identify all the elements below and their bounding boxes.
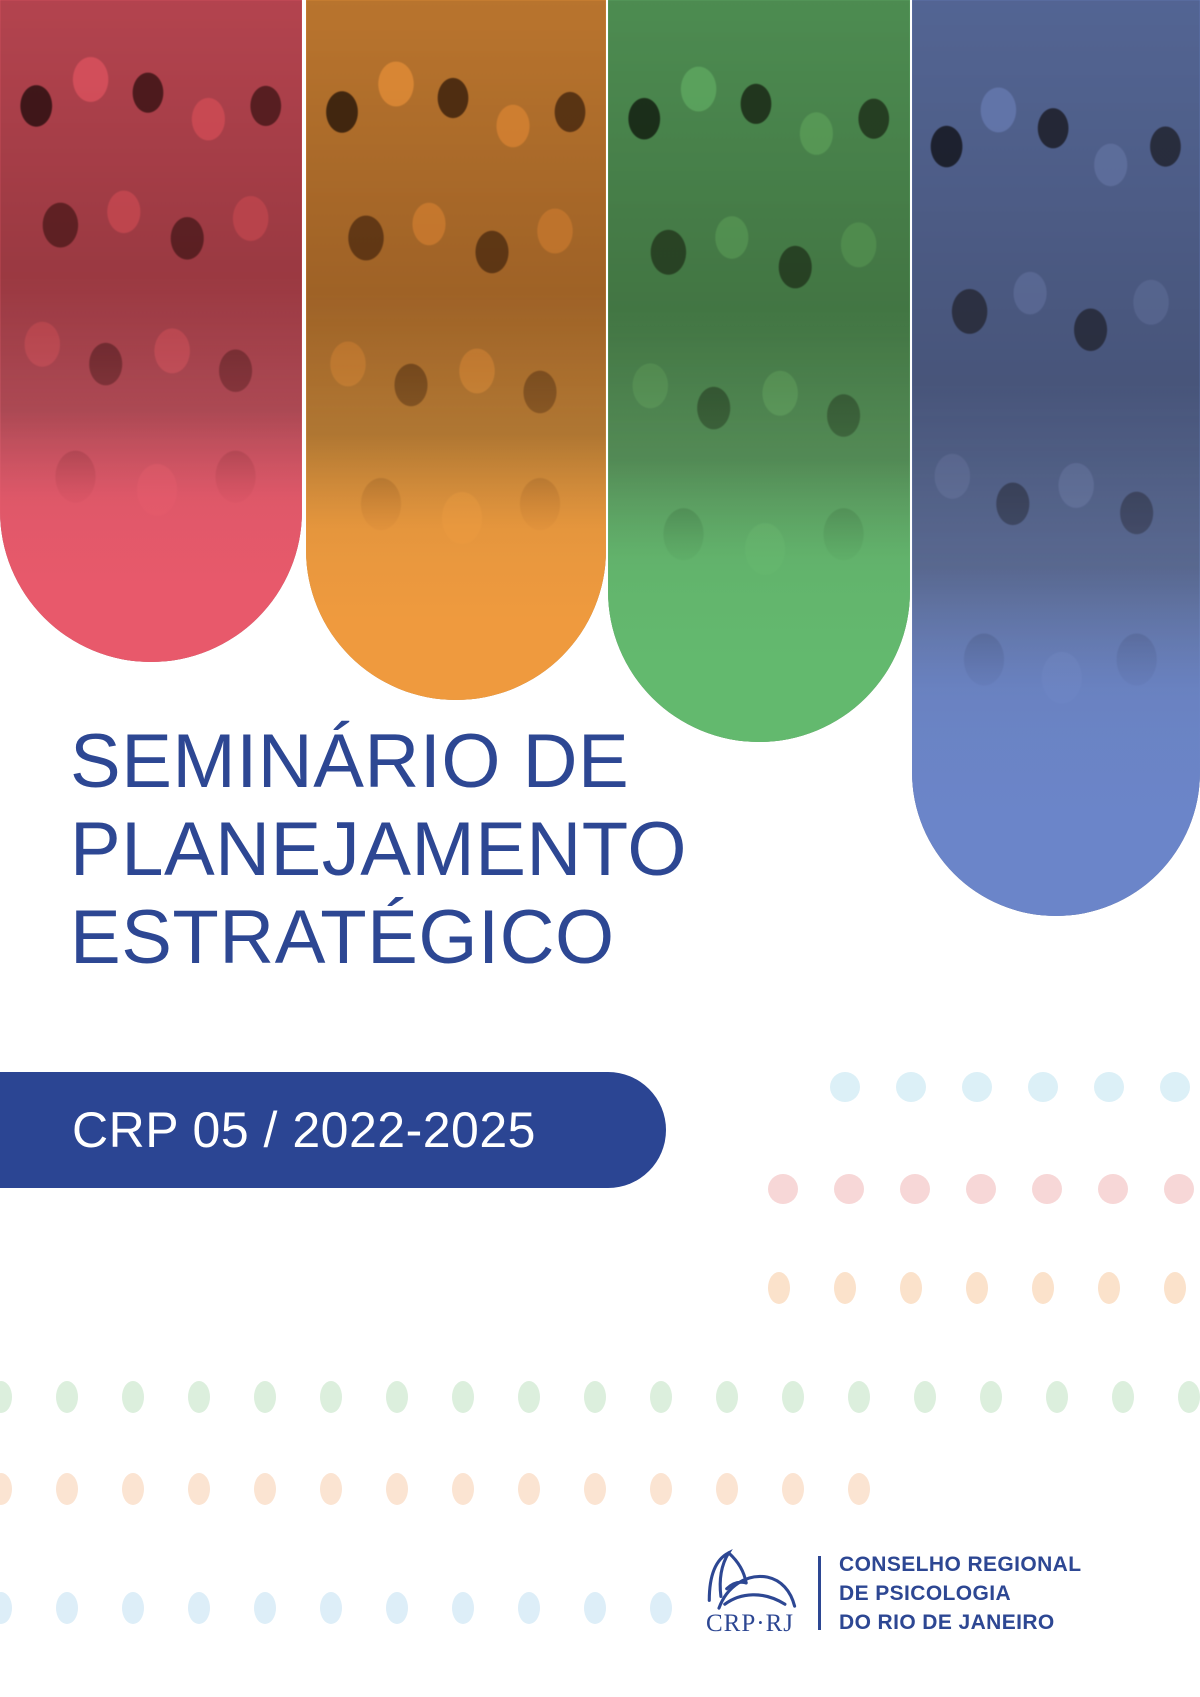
decor-dot: [584, 1473, 606, 1505]
decor-dot: [1028, 1072, 1058, 1102]
decor-dot: [452, 1473, 474, 1505]
decor-dot: [584, 1381, 606, 1413]
dots-lightblue-upper: [830, 1072, 1190, 1102]
color-block-fade: [306, 434, 606, 700]
decor-dot: [962, 1072, 992, 1102]
logo-line-1: CONSELHO REGIONAL: [839, 1550, 1081, 1579]
decor-dot: [122, 1592, 144, 1624]
decor-dot: [1046, 1381, 1068, 1413]
decor-dot: [768, 1174, 798, 1204]
subtitle-text: CRP 05 / 2022-2025: [72, 1101, 536, 1159]
decor-dot: [452, 1592, 474, 1624]
decor-dot: [650, 1592, 672, 1624]
subtitle-banner: CRP 05 / 2022-2025: [0, 1072, 666, 1188]
decor-dot: [650, 1473, 672, 1505]
decor-dot: [834, 1174, 864, 1204]
dots-peach-left: [0, 1473, 870, 1505]
column-blue: [912, 0, 1200, 916]
dots-green-full: [0, 1381, 1200, 1413]
decor-dot: [188, 1473, 210, 1505]
decor-dot: [966, 1174, 996, 1204]
logo-divider: [818, 1556, 821, 1630]
decor-dot: [900, 1272, 922, 1304]
decor-dot: [188, 1381, 210, 1413]
decor-dot: [56, 1473, 78, 1505]
decor-dot: [122, 1381, 144, 1413]
decor-dot: [56, 1381, 78, 1413]
column-red: [0, 0, 302, 662]
decor-dot: [254, 1592, 276, 1624]
dots-pink-upper: [768, 1174, 1194, 1204]
decor-dot: [254, 1381, 276, 1413]
decor-dot: [320, 1592, 342, 1624]
decor-dot: [650, 1381, 672, 1413]
decor-dot: [834, 1272, 856, 1304]
decor-dot: [1032, 1272, 1054, 1304]
logo-text-block: CONSELHO REGIONAL DE PSICOLOGIA DO RIO D…: [839, 1550, 1081, 1637]
column-orange: [306, 0, 606, 700]
decor-dot: [1098, 1272, 1120, 1304]
decor-dot: [386, 1592, 408, 1624]
decor-dot: [966, 1272, 988, 1304]
decor-dot: [1160, 1072, 1190, 1102]
decor-dot: [518, 1381, 540, 1413]
decor-dot: [518, 1592, 540, 1624]
decor-dot: [830, 1072, 860, 1102]
decor-dot: [914, 1381, 936, 1413]
decor-dot: [320, 1381, 342, 1413]
crp-rj-logo: CRP·RJ CONSELHO REGIONAL DE PSICOLOGIA D…: [696, 1548, 1081, 1638]
decor-dot: [56, 1592, 78, 1624]
decor-dot: [1178, 1381, 1200, 1413]
decor-dot: [1164, 1272, 1186, 1304]
decor-dot: [386, 1473, 408, 1505]
decor-dot: [848, 1473, 870, 1505]
decor-dot: [782, 1473, 804, 1505]
logo-line-2: DE PSICOLOGIA: [839, 1579, 1081, 1608]
decor-dot: [980, 1381, 1002, 1413]
decor-dot: [254, 1473, 276, 1505]
color-block-fade: [0, 410, 302, 662]
dots-lightblue-low: [0, 1592, 672, 1624]
decor-dot: [716, 1473, 738, 1505]
decor-dot: [386, 1381, 408, 1413]
decor-dot: [1032, 1174, 1062, 1204]
color-block-fade: [608, 460, 910, 742]
decor-dot: [1094, 1072, 1124, 1102]
column-green: [608, 0, 910, 742]
color-block-fade: [912, 568, 1200, 916]
decor-dot: [0, 1473, 12, 1505]
decor-dot: [188, 1592, 210, 1624]
title-line-2: PLANEJAMENTO: [70, 806, 830, 894]
crp-rj-wordmark: CRP·RJ: [706, 1610, 794, 1638]
decor-dot: [1112, 1381, 1134, 1413]
decor-dot: [782, 1381, 804, 1413]
decor-dot: [584, 1592, 606, 1624]
title-line-1: SEMINÁRIO DE: [70, 718, 830, 806]
decor-dot: [900, 1174, 930, 1204]
decor-dot: [122, 1473, 144, 1505]
decor-dot: [848, 1381, 870, 1413]
crp-rj-bird-icon: CRP·RJ: [696, 1548, 804, 1638]
decor-dot: [716, 1381, 738, 1413]
decor-dot: [896, 1072, 926, 1102]
decor-dot: [768, 1272, 790, 1304]
logo-line-3: DO RIO DE JANEIRO: [839, 1608, 1081, 1637]
title-line-3: ESTRATÉGICO: [70, 894, 830, 982]
decor-dot: [1164, 1174, 1194, 1204]
decor-dot: [0, 1381, 12, 1413]
page-title: SEMINÁRIO DE PLANEJAMENTO ESTRATÉGICO: [70, 718, 830, 982]
dots-peach-upper: [768, 1272, 1186, 1304]
decor-dot: [0, 1592, 12, 1624]
decor-dot: [1098, 1174, 1128, 1204]
decor-dot: [320, 1473, 342, 1505]
decor-dot: [518, 1473, 540, 1505]
decor-dot: [452, 1381, 474, 1413]
